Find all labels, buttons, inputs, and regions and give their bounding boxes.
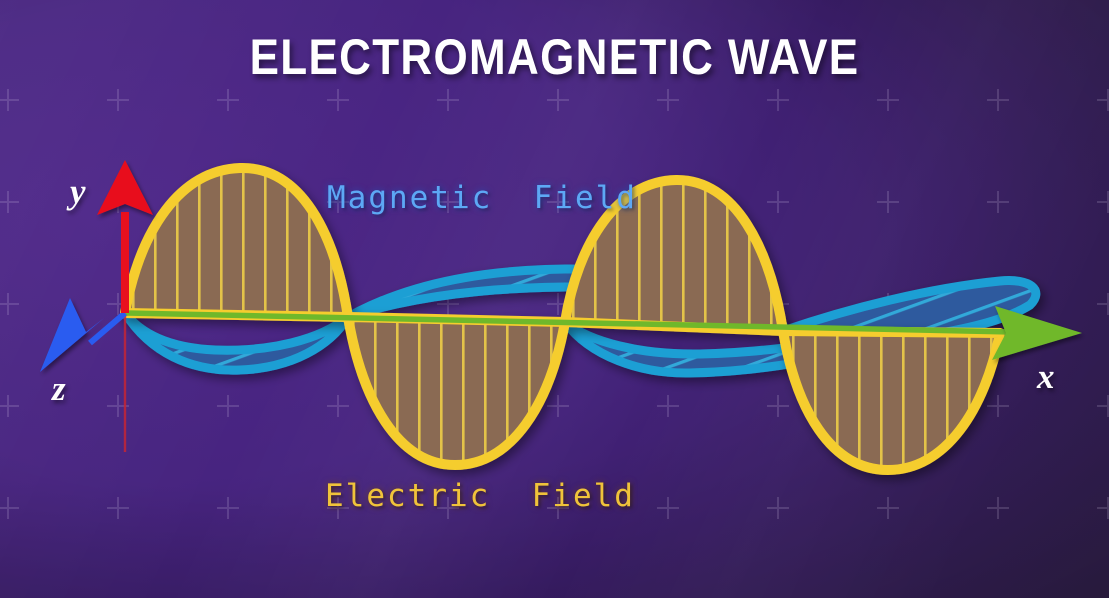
z-axis <box>40 298 125 372</box>
electric-field-label: Electric Field <box>325 478 635 514</box>
x-axis-label: x <box>1037 357 1055 397</box>
electromagnetic-wave-figure: ELECTROMAGNETIC WAVE <box>0 0 1109 598</box>
electric-lobe-4 <box>783 331 1000 470</box>
y-axis-label: y <box>70 172 86 212</box>
magnetic-field-label: Magnetic Field <box>327 180 637 216</box>
z-axis-label: z <box>52 369 66 409</box>
magnetic-lobe-1 <box>125 313 348 370</box>
electric-lobe-2 <box>348 317 565 465</box>
electric-lobe-1 <box>125 168 348 317</box>
